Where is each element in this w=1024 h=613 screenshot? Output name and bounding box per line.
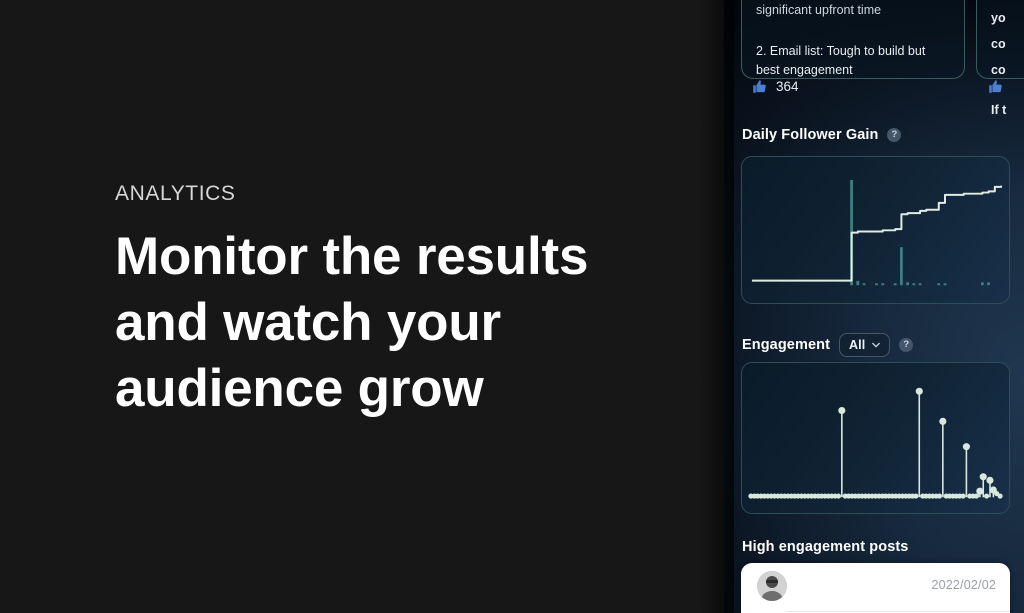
quote2-line-2: co bbox=[991, 31, 1024, 57]
like-row[interactable] bbox=[988, 79, 1012, 94]
quote-card[interactable]: significant upfront time 2. Email list: … bbox=[741, 0, 965, 79]
engagement-point bbox=[913, 493, 918, 498]
engagement-point bbox=[976, 488, 983, 495]
engagement-point bbox=[939, 418, 946, 425]
eyebrow-label: ANALYTICS bbox=[115, 182, 236, 206]
follower-bar bbox=[856, 281, 859, 285]
engagement-point bbox=[836, 493, 841, 498]
hero-section: ANALYTICS Monitor the results and watch … bbox=[0, 0, 724, 613]
engagement-stems bbox=[748, 388, 1002, 499]
post-date: 2022/02/02 bbox=[931, 578, 996, 592]
section-title-high-engagement-posts: High engagement posts bbox=[742, 539, 908, 555]
engagement-point bbox=[960, 493, 965, 498]
follower-bar bbox=[912, 283, 915, 285]
engagement-point bbox=[980, 473, 987, 480]
quote-line-2: best engagement bbox=[756, 61, 950, 80]
engagement-point bbox=[997, 493, 1002, 498]
follower-bar bbox=[987, 282, 990, 285]
follower-bar bbox=[875, 283, 878, 285]
quote-line-1: 2. Email list: Tough to build but bbox=[756, 42, 950, 61]
like-count: 364 bbox=[776, 79, 799, 94]
high-engagement-post-item[interactable]: 2022/02/02 bbox=[741, 563, 1010, 613]
engagement-filter-dropdown[interactable]: All bbox=[839, 333, 890, 357]
follower-daily-bars bbox=[850, 180, 990, 285]
quote-cards-row: significant upfront time 2. Email list: … bbox=[724, 0, 1024, 79]
follower-bar bbox=[881, 283, 884, 285]
avatar bbox=[757, 571, 787, 601]
engagement-point bbox=[963, 443, 970, 450]
headline-line-3: audience grow bbox=[115, 356, 715, 422]
quote-clipped-line: significant upfront time bbox=[756, 1, 950, 20]
thumbs-up-icon bbox=[752, 79, 767, 94]
follower-bar bbox=[906, 282, 909, 285]
daily-follower-gain-chart[interactable] bbox=[741, 156, 1010, 304]
section-label: Engagement bbox=[742, 337, 830, 353]
quote2-line-4: If t bbox=[991, 97, 1024, 123]
follower-bar bbox=[900, 247, 903, 285]
chevron-down-icon bbox=[872, 341, 880, 349]
divider bbox=[787, 611, 1010, 612]
engagement-filter-value: All bbox=[849, 338, 865, 352]
engagement-point bbox=[937, 493, 942, 498]
engagement-chart[interactable] bbox=[741, 362, 1010, 514]
engagement-point bbox=[916, 388, 923, 395]
follower-chart-svg bbox=[742, 157, 1009, 303]
engagement-point bbox=[986, 477, 993, 484]
engagement-point bbox=[984, 493, 989, 498]
follower-bar bbox=[937, 283, 940, 285]
headline-line-1: Monitor the results bbox=[115, 224, 715, 290]
engagement-chart-svg bbox=[742, 363, 1009, 513]
section-label: High engagement posts bbox=[742, 539, 908, 555]
page-title: Monitor the results and watch your audie… bbox=[115, 224, 715, 422]
follower-bar bbox=[919, 283, 922, 285]
section-title-daily-follower-gain: Daily Follower Gain ? bbox=[742, 127, 901, 143]
question-mark-icon[interactable]: ? bbox=[899, 338, 913, 352]
follower-bar bbox=[981, 282, 984, 285]
question-mark-icon[interactable]: ? bbox=[887, 128, 901, 142]
section-title-engagement: Engagement All ? bbox=[742, 333, 913, 357]
section-label: Daily Follower Gain bbox=[742, 127, 878, 143]
engagement-point bbox=[838, 407, 845, 414]
user-avatar-icon bbox=[757, 571, 787, 601]
like-row[interactable]: 364 bbox=[752, 79, 799, 94]
follower-bar bbox=[894, 283, 897, 285]
follower-bar bbox=[863, 283, 866, 285]
follower-cumulative-line bbox=[752, 186, 1001, 281]
quote-card[interactable]: yo co co If t bbox=[976, 0, 1024, 79]
thumbs-up-icon bbox=[988, 79, 1003, 94]
quote2-line-1: yo bbox=[991, 5, 1024, 31]
follower-bar bbox=[944, 283, 947, 285]
headline-line-2: and watch your bbox=[115, 290, 715, 356]
